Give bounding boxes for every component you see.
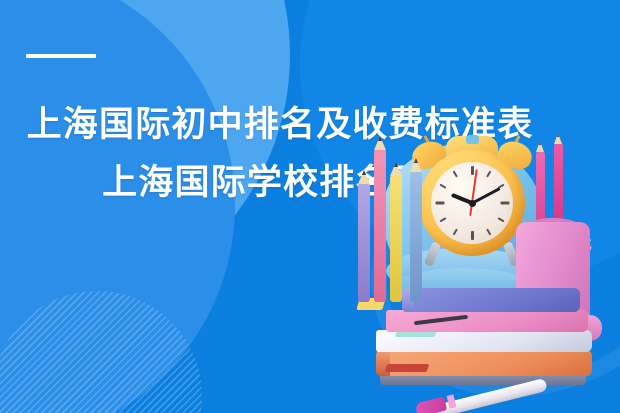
clock-tick-icon <box>486 170 491 177</box>
pencil-tip-icon <box>557 133 559 137</box>
pencil-tip-icon <box>414 158 418 163</box>
book-orange-spine-icon <box>376 350 390 376</box>
pencil-tip-icon <box>362 170 366 175</box>
study-desk-illustration <box>330 130 620 413</box>
clock-pivot-icon <box>469 200 476 207</box>
clock-leg-left-icon <box>424 241 441 267</box>
pencil-purple-icon <box>358 184 370 302</box>
clock-body-icon <box>419 150 525 256</box>
clock-face-icon <box>431 162 513 244</box>
clock-tick-icon <box>435 202 444 205</box>
clock-tick-icon <box>486 228 491 235</box>
pencil-pink-icon <box>374 150 386 302</box>
clock-tick-icon <box>439 217 446 222</box>
clock-knob-icon <box>466 135 479 144</box>
clock-tick-icon <box>471 166 474 175</box>
accent-dash <box>26 54 96 58</box>
cup-pencil-rose-icon <box>554 144 563 226</box>
clock-tick-icon <box>500 202 509 205</box>
clock-minute-hand-icon <box>471 187 500 204</box>
promo-banner: 上海国际初中排名及收费标准表 上海国际学校排名及 <box>0 0 620 413</box>
pencil-tip-icon <box>539 141 541 145</box>
pencil-yellow-icon <box>390 176 402 302</box>
book-red-sliver-icon <box>385 364 430 372</box>
clock-tick-icon <box>471 231 474 240</box>
clock-tick-icon <box>453 170 458 177</box>
clock-tick-icon <box>439 184 446 189</box>
clock-tick-icon <box>453 228 458 235</box>
cup-pencil-magenta-icon <box>536 152 545 226</box>
pencil-tip-icon <box>378 136 382 141</box>
pencil-tip-icon <box>394 162 398 167</box>
felt-pen-tip-icon <box>415 397 447 413</box>
book-orange-icon <box>382 350 592 376</box>
clock-tick-icon <box>497 217 504 222</box>
pencil-blue-icon <box>410 172 422 302</box>
book-purple-icon <box>406 288 580 312</box>
